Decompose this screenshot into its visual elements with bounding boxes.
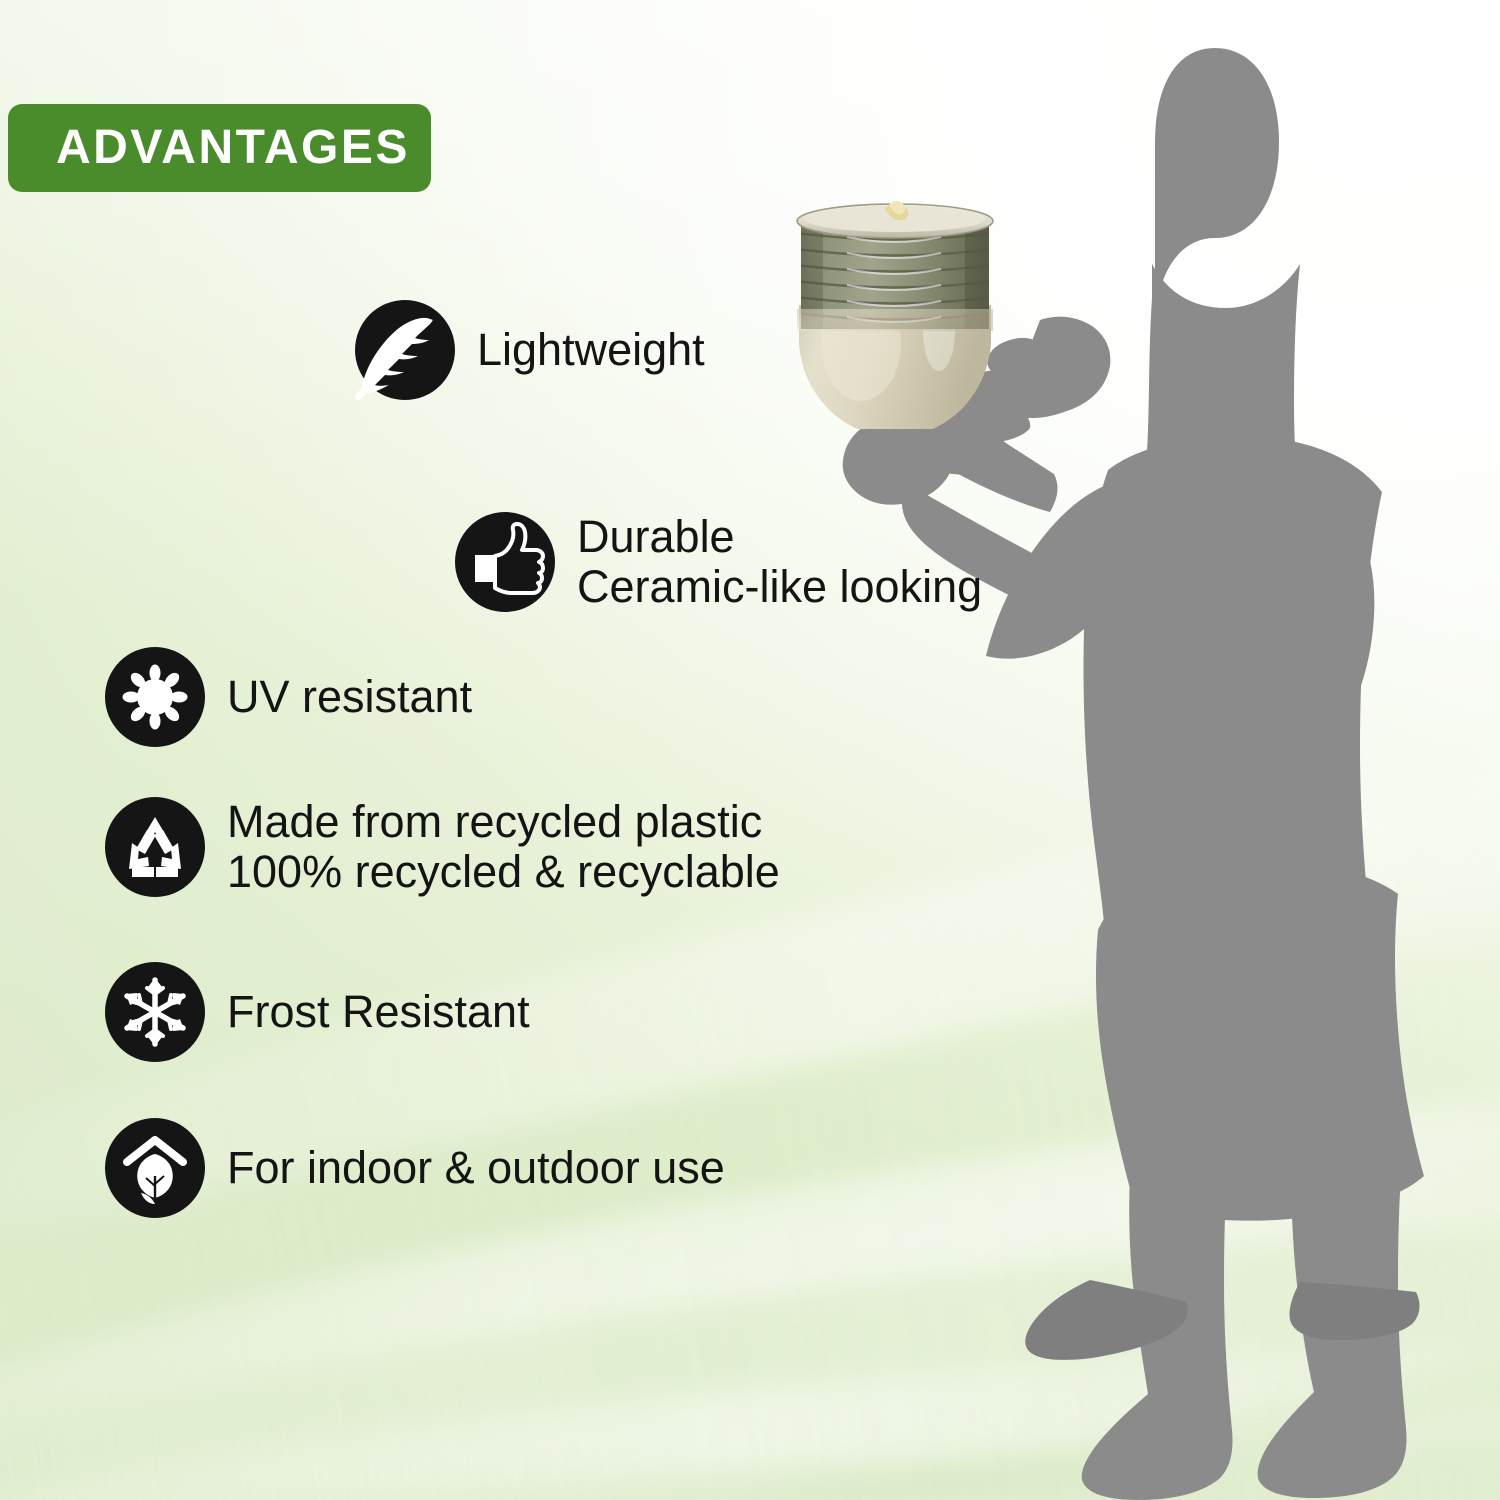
feature-label: Lightweight [477, 325, 705, 375]
ribbed-planter-product [789, 193, 1001, 429]
advantages-badge: ADVANTAGES [8, 104, 431, 192]
feature-item-recycled: Made from recycled plastic 100% recycled… [105, 797, 780, 898]
feature-item-frost-resistant: Frost Resistant [105, 962, 530, 1062]
feature-item-durable: Durable Ceramic-like looking [455, 512, 982, 613]
house-plant-icon [105, 1118, 205, 1218]
feature-item-indoor-outdoor: For indoor & outdoor use [105, 1118, 725, 1218]
feather-icon [355, 300, 455, 400]
feature-label: Made from recycled plastic 100% recycled… [227, 797, 780, 898]
feature-label: UV resistant [227, 672, 472, 722]
thumbs-up-icon [455, 512, 555, 612]
snowflake-icon [105, 962, 205, 1062]
feature-label: Durable Ceramic-like looking [577, 512, 982, 613]
feature-item-uv-resistant: UV resistant [105, 647, 472, 747]
recycle-icon [105, 797, 205, 897]
advantages-badge-label: ADVANTAGES [56, 124, 410, 172]
feature-label: For indoor & outdoor use [227, 1143, 725, 1193]
feature-label: Frost Resistant [227, 987, 530, 1037]
infographic-canvas: ADVANTAGES Lightweight Durable Ceramic-l… [0, 0, 1500, 1500]
feature-item-lightweight: Lightweight [355, 300, 705, 400]
sun-icon [105, 647, 205, 747]
